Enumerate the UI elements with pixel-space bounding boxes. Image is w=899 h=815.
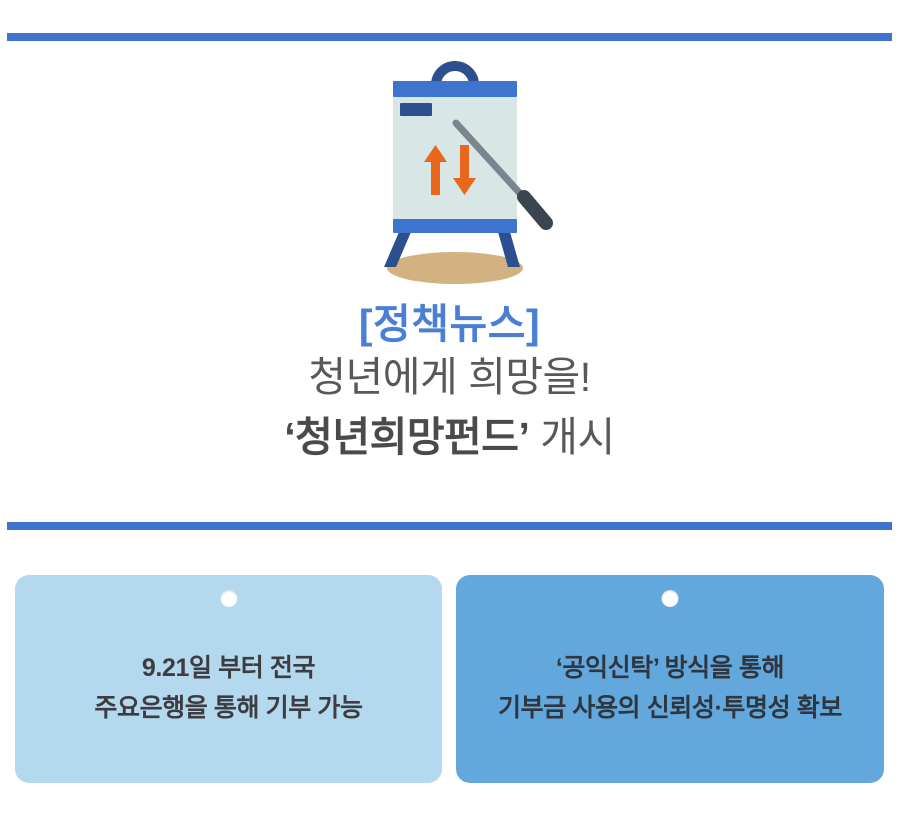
headline-line-2: 청년에게 희망을! <box>0 348 899 407</box>
info-card-line: ‘공익신탁’ 방식을 통해 <box>498 648 842 689</box>
policy-board-illustration <box>330 55 580 285</box>
info-cards-row: 9.21일 부터 전국 주요은행을 통해 기부 가능 ‘공익신탁’ 방식을 통해… <box>15 575 884 783</box>
punch-hole-icon <box>662 590 679 607</box>
headline-line-3: ‘청년희망펀드’ 개시 <box>0 408 899 467</box>
info-card-donation-channel[interactable]: 9.21일 부터 전국 주요은행을 통해 기부 가능 <box>15 575 442 783</box>
punch-hole-icon <box>220 590 237 607</box>
headline-block: [정책뉴스] 청년에게 희망을! ‘청년희망펀드’ 개시 <box>0 300 899 467</box>
headline-line-3-suffix: 개시 <box>529 414 614 460</box>
info-card-line: 주요은행을 통해 기부 가능 <box>94 688 362 729</box>
info-card-text: ‘공익신탁’ 방식을 통해 기부금 사용의 신뢰성·투명성 확보 <box>484 648 856 729</box>
info-card-public-trust[interactable]: ‘공익신탁’ 방식을 통해 기부금 사용의 신뢰성·투명성 확보 <box>456 575 884 783</box>
kicker-label: [정책뉴스] <box>0 300 899 348</box>
info-card-line: 9.21일 부터 전국 <box>94 648 362 689</box>
headline-fund-name: ‘청년희망펀드’ <box>284 414 529 460</box>
top-divider-bar <box>7 33 892 41</box>
info-card-text: 9.21일 부터 전국 주요은행을 통해 기부 가능 <box>80 648 376 729</box>
middle-divider-bar <box>7 522 892 530</box>
board-bottom-bar <box>393 219 517 233</box>
board-top-bar <box>393 81 517 97</box>
board-label-plate <box>400 103 432 116</box>
pointer-handle <box>524 197 546 223</box>
ground-shadow-ellipse <box>387 252 523 284</box>
info-card-line: 기부금 사용의 신뢰성·투명성 확보 <box>498 688 842 729</box>
